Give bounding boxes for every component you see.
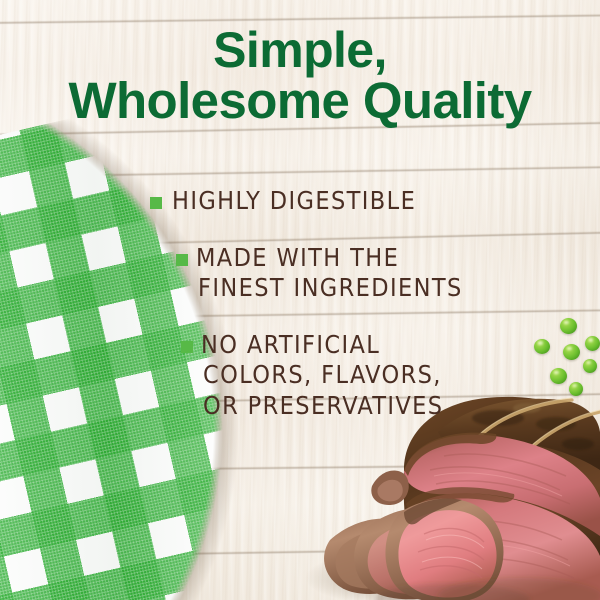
- pea: [585, 336, 600, 351]
- list-item: Made with the finest ingredients: [150, 243, 480, 304]
- list-item-label: No artificial colors, flavors, or preser…: [201, 330, 443, 420]
- headline-line-1: Simple,: [0, 26, 600, 76]
- list-item-label: Made with the finest ingredients: [196, 243, 463, 303]
- promotional-banner: Simple, Wholesome Quality Highly Digesti…: [0, 0, 600, 600]
- pea: [569, 382, 583, 396]
- green-square-bullet-icon: [176, 254, 188, 266]
- pea: [550, 368, 567, 384]
- pea: [583, 359, 597, 373]
- headline-line-2: Wholesome Quality: [0, 76, 600, 126]
- list-item: No artificial colors, flavors, or preser…: [150, 330, 480, 422]
- pea: [534, 339, 550, 354]
- list-item-label: Highly Digestible: [172, 186, 416, 215]
- page-title: Simple, Wholesome Quality: [0, 26, 600, 126]
- pea: [560, 318, 577, 334]
- pea: [563, 344, 580, 360]
- feature-list: Highly Digestible Made with the finest i…: [150, 186, 480, 421]
- green-square-bullet-icon: [150, 197, 162, 209]
- list-item: Highly Digestible: [150, 186, 480, 217]
- green-square-bullet-icon: [181, 341, 193, 353]
